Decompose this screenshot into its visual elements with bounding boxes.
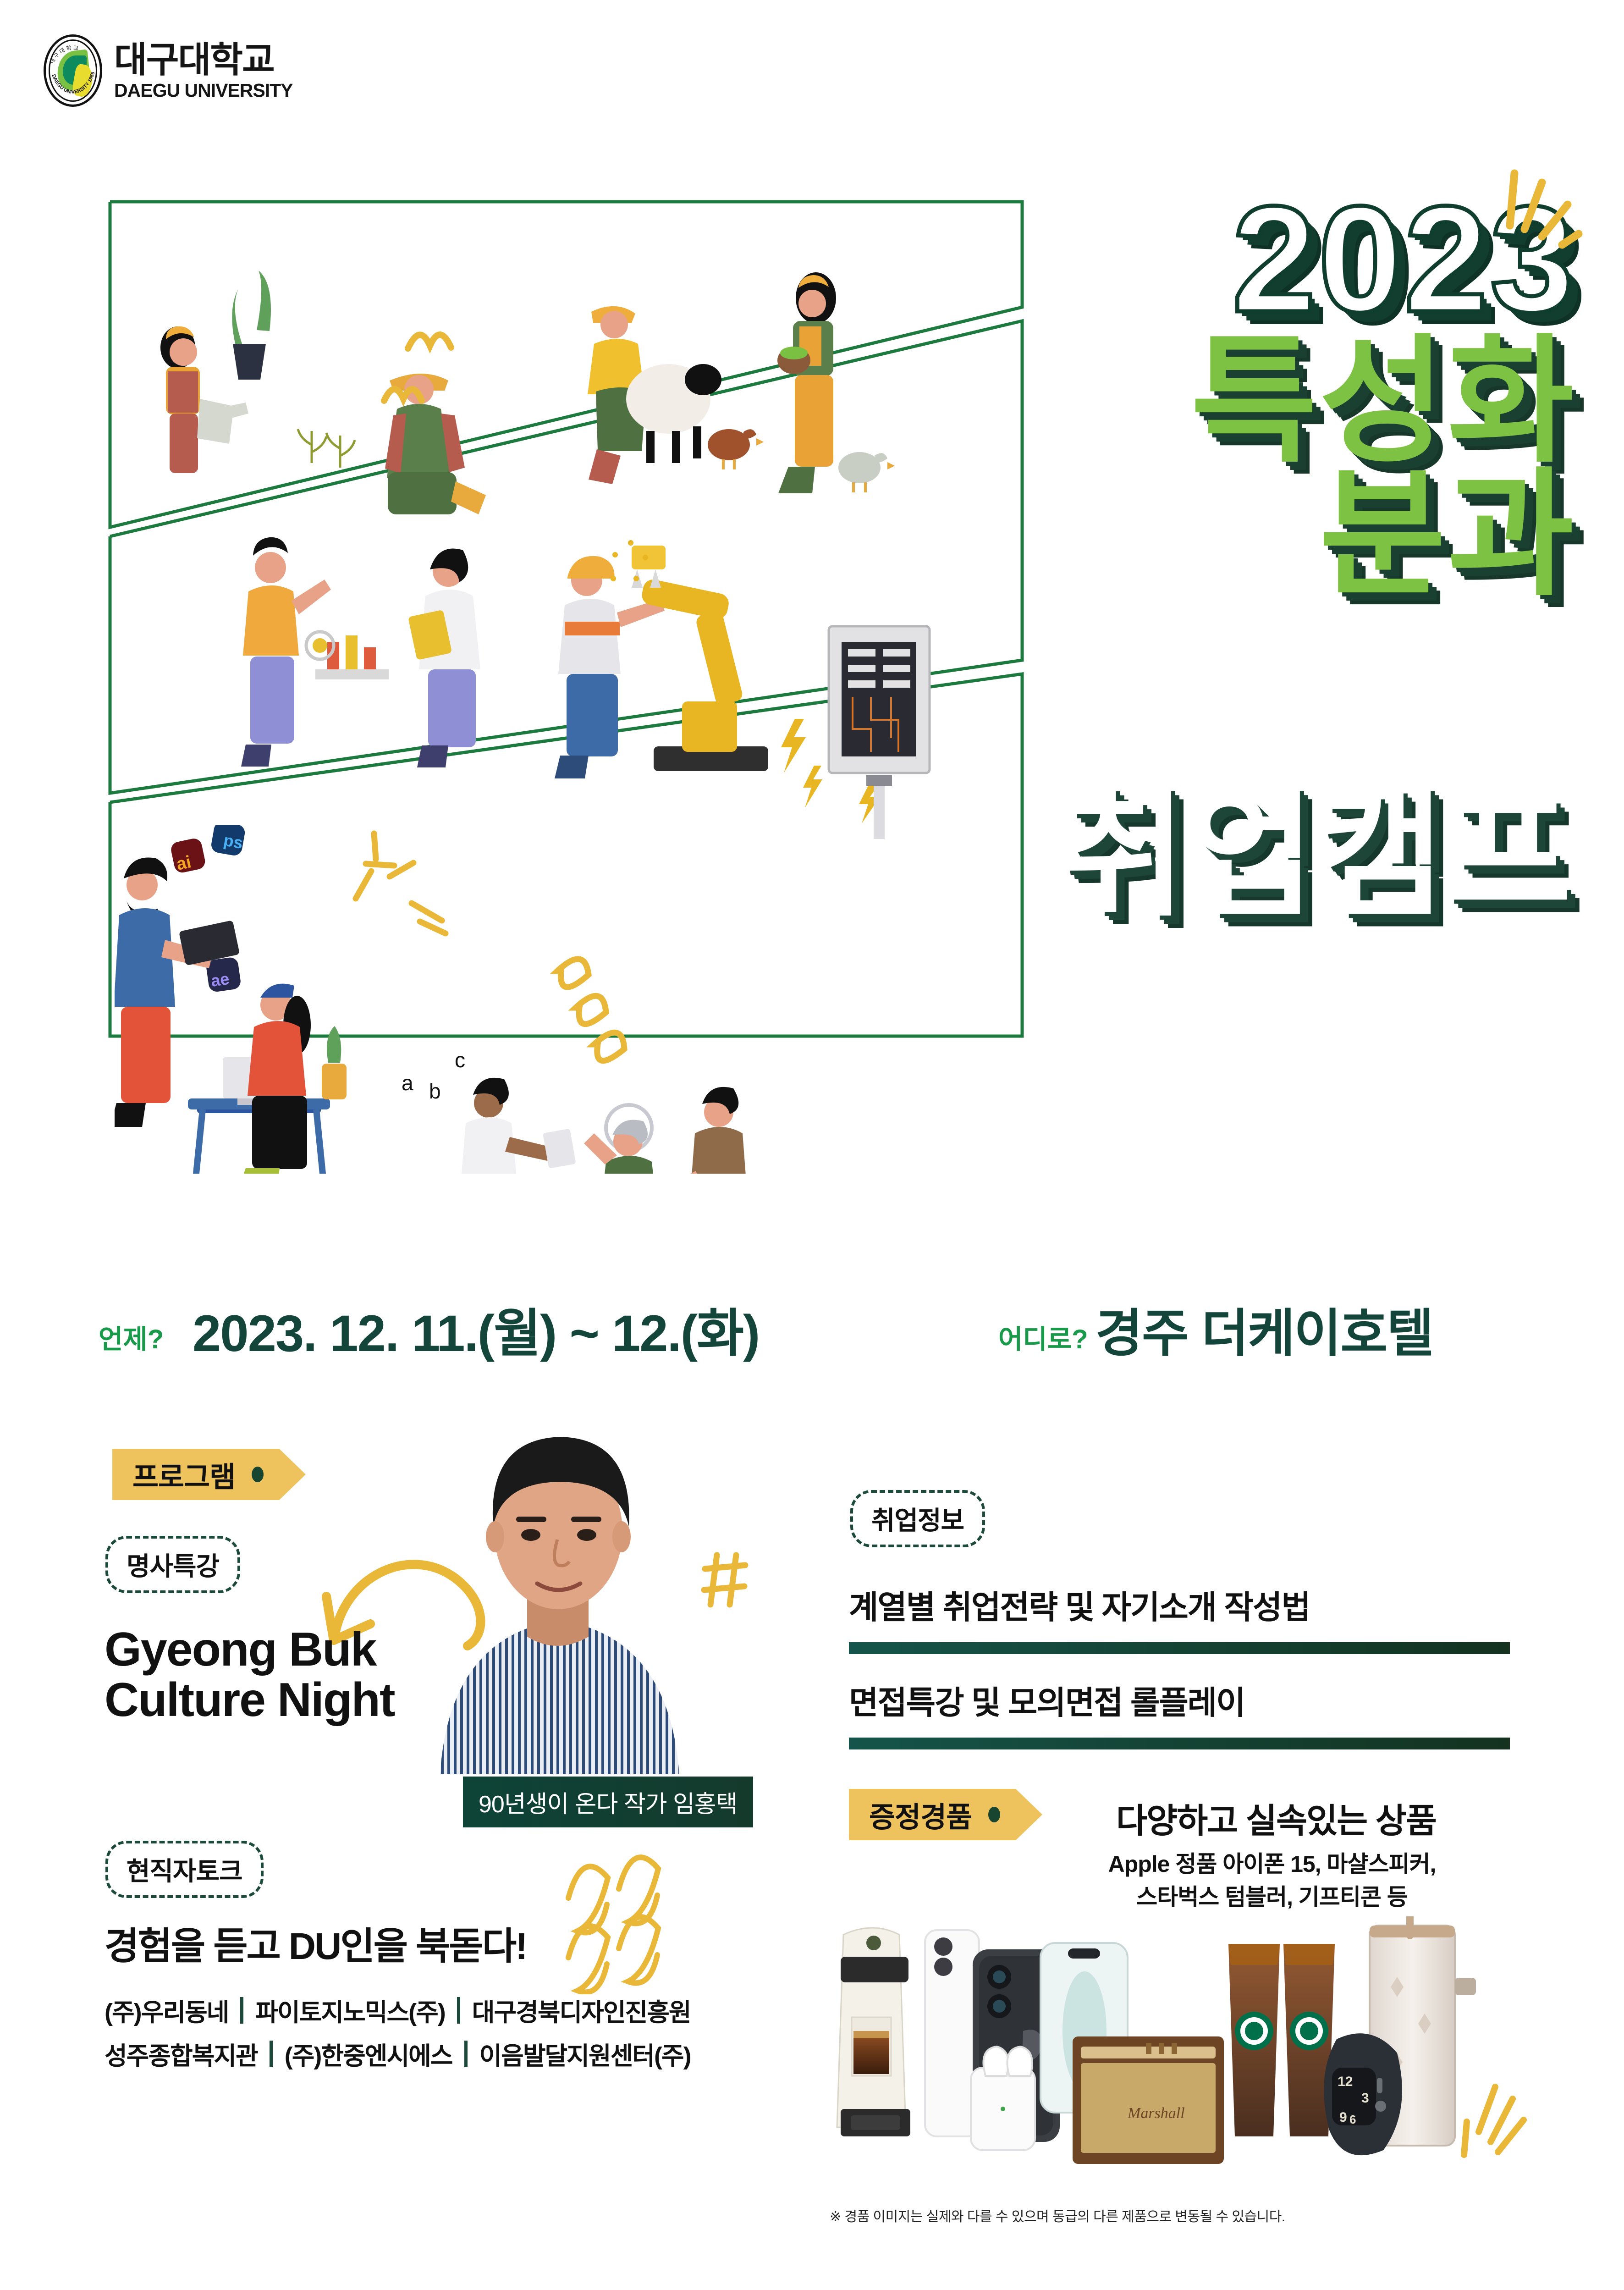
speaker-portrait [422,1394,706,1774]
svg-text:3: 3 [1361,2091,1369,2106]
where-label: 어디로? [998,1318,1088,1356]
svg-text:ae: ae [209,969,230,990]
program-tag: 프로그램 [112,1449,279,1500]
hero-section: ai ps ae [0,174,1624,1256]
svg-text:DAEGU UNIVERSITY 1956: DAEGU UNIVERSITY 1956 [50,71,96,95]
prizes-footnote: ※ 경품 이미지는 실제와 다를 수 있으며 동급의 다른 제품으로 변동될 수… [830,2205,1285,2225]
university-name-en: DAEGU UNIVERSITY [114,81,293,100]
prizes-headline: 다양하고 실속있는 상품 [1116,1793,1436,1843]
spark-icon [1470,165,1590,270]
svg-text:12: 12 [1338,2074,1353,2089]
job-info-badge: 취업정보 [850,1490,985,1547]
company-row-2: 성주종합복지관 (주)한중엔시에스 이음발달지원센터(주) [105,2036,691,2072]
prizes-list-line2: 스타벅스 텀블러, 기프티콘 등 [1043,1881,1501,1914]
starbucks-drink-icon [1228,1944,1280,2136]
job-info-item-2: 면접특강 및 모의면접 롤플레이 [849,1677,1245,1723]
company-name: 성주종합복지관 [105,2036,258,2072]
prizes-tag-label: 증정경품 [869,1794,972,1835]
talk-badge: 현직자토크 [105,1841,264,1898]
separator [464,2041,468,2067]
keynote-badge: 명사특강 [105,1536,240,1593]
apple-watch-icon: 12 3 9 6 [1324,2033,1402,2155]
company-name: 이음발달지원센터(주) [479,2036,691,2072]
keynote-title-line2: Culture Night [105,1673,395,1727]
hero-title-line1: 특성화 [952,335,1576,468]
divider-1 [849,1642,1510,1654]
separator [240,1997,243,2024]
prize-products-image: Marshall [825,1916,1577,2173]
svg-text:대 구 대 학 교: 대 구 대 학 교 [49,44,79,65]
company-name: 대구경북디자인진흥원 [472,1992,691,2028]
svg-text:a: a [402,1071,413,1095]
separator [457,1997,460,2024]
marshall-speaker-icon: Marshall [1073,2036,1224,2164]
daegu-university-emblem-icon: 대 구 대 학 교 DAEGU UNIVERSITY 1956 [44,34,102,107]
hero-title-line3-wrap: 취업캠프 [703,789,1574,922]
svg-text:b: b [429,1079,441,1103]
talk-headline: 경험을 듣고 DU인을 북돋다! [105,1915,527,1970]
program-tag-label: 프로그램 [132,1454,235,1495]
tag-dot-icon [988,1807,1000,1822]
hero-title-line2: 분과 [952,468,1576,601]
swirl-doodle-icon [564,1843,715,1994]
content-section: 프로그램 명사특강 Gyeong Buk Culture Night [0,1444,1624,2290]
keynote-title-line1: Gyeong Buk [105,1623,376,1676]
speaker-caption: 90년생이 온다 작가 임홍택 [463,1777,753,1827]
svg-text:6: 6 [1349,2113,1356,2126]
poster-title-block: 2023 특성화 분과 [952,183,1576,601]
job-info-item-1: 계열별 취업전략 및 자기소개 작성법 [849,1582,1310,1628]
university-logo: 대 구 대 학 교 DAEGU UNIVERSITY 1956 대구대학교 DA… [44,34,293,107]
when-value: 2023. 12. 11.(월) ~ 12.(화) [193,1292,759,1366]
when-label: 언제? [99,1318,164,1356]
divider-2 [849,1738,1510,1749]
hash-doodle-icon [701,1545,756,1614]
svg-text:Marshall: Marshall [1127,2105,1185,2122]
tag-dot-icon [252,1467,264,1482]
company-name: (주)우리동네 [105,1992,228,2028]
schedule-bar: 언제? 2023. 12. 11.(월) ~ 12.(화) 어디로? 경주 더케… [0,1284,1624,1371]
prizes-list-line1: Apple 정품 아이폰 15, 마샬스피커, [1043,1848,1501,1881]
company-name: 파이토지노믹스(주) [255,1992,445,2028]
hero-title-line3: 취업캠프 [703,789,1574,922]
svg-text:c: c [455,1048,465,1072]
svg-text:ps: ps [222,831,244,853]
illustration-agriculture [115,206,985,527]
where-value: 경주 더케이호텔 [1096,1292,1433,1366]
prizes-tag: 증정경품 [849,1789,1016,1840]
company-row-1: (주)우리동네 파이토지노믹스(주) 대구경북디자인진흥원 [105,1992,691,2028]
company-name: (주)한중엔시에스 [285,2036,452,2072]
university-name-kr: 대구대학교 [114,42,293,77]
svg-text:9: 9 [1339,2110,1347,2125]
coffee-machine-icon [837,1928,910,2136]
separator [270,2041,273,2067]
